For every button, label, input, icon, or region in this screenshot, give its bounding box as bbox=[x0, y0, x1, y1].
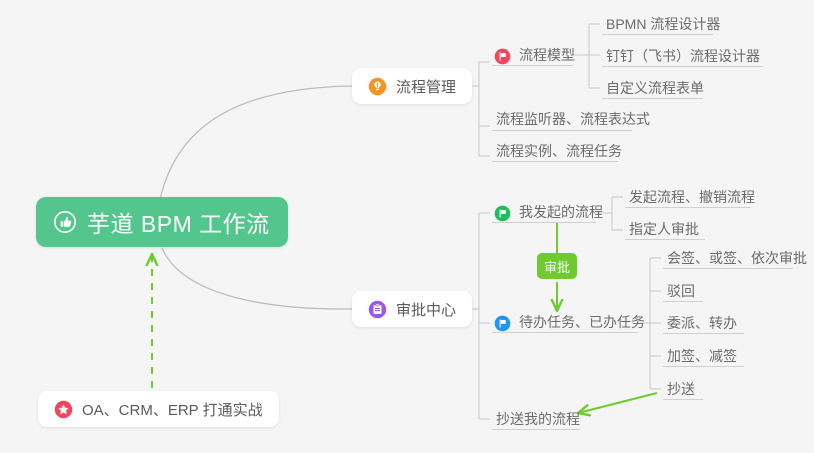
node-underline bbox=[492, 429, 580, 430]
clipboard-icon bbox=[368, 300, 387, 319]
branch-node-process-management[interactable]: 流程管理 bbox=[352, 68, 472, 104]
node-underline bbox=[663, 268, 793, 269]
callout-label: 审批 bbox=[544, 257, 570, 276]
node-label: 加签、减签 bbox=[667, 346, 737, 366]
footnote-node-integration[interactable]: OA、CRM、ERP 打通实战 bbox=[38, 391, 279, 427]
node-label: 抄送 bbox=[667, 379, 695, 399]
node-label: 钉钉（飞书）流程设计器 bbox=[606, 46, 760, 66]
node-label: 会签、或签、依次审批 bbox=[667, 248, 807, 268]
edge-root-to-approval-center bbox=[162, 248, 352, 309]
root-node-label: 芋道 BPM 工作流 bbox=[87, 205, 270, 239]
node-underline bbox=[663, 301, 703, 302]
node-label: 我发起的流程 bbox=[519, 202, 603, 222]
node-underline bbox=[492, 130, 632, 131]
node-label: 自定义流程表单 bbox=[606, 78, 704, 98]
node-underline bbox=[625, 207, 751, 208]
node-underline bbox=[602, 66, 763, 67]
callout-approval-chip: 审批 bbox=[537, 253, 577, 279]
node-underline bbox=[602, 98, 703, 99]
branch-node-label: 流程管理 bbox=[396, 76, 456, 97]
node-label: 发起流程、撤销流程 bbox=[629, 187, 755, 207]
node-label: BPMN 流程设计器 bbox=[606, 14, 720, 34]
node-label: 待办任务、已办任务 bbox=[519, 312, 645, 332]
lightbulb-icon bbox=[368, 77, 387, 96]
node-underline bbox=[492, 65, 573, 66]
node-label: 流程模型 bbox=[519, 45, 575, 65]
node-label: 流程监听器、流程表达式 bbox=[496, 109, 650, 129]
mindmap-canvas: 芋道 BPM 工作流 流程管理 流程模型 BPMN 流程设计器 bbox=[0, 0, 814, 453]
footnote-node-label: OA、CRM、ERP 打通实战 bbox=[82, 399, 263, 420]
flag-icon bbox=[494, 48, 511, 65]
node-label: 指定人审批 bbox=[629, 219, 699, 239]
node-underline bbox=[492, 161, 618, 162]
flag-icon bbox=[494, 315, 511, 332]
node-label: 流程实例、流程任务 bbox=[496, 141, 622, 161]
node-underline bbox=[492, 222, 596, 223]
star-icon bbox=[54, 400, 73, 419]
node-label: 抄送我的流程 bbox=[496, 409, 580, 429]
branch-node-label: 审批中心 bbox=[396, 299, 456, 320]
node-underline bbox=[663, 333, 744, 334]
node-underline bbox=[625, 239, 705, 240]
arrow-cc-to-ccme bbox=[578, 393, 657, 413]
node-underline bbox=[602, 34, 713, 35]
node-label: 委派、转办 bbox=[667, 313, 737, 333]
thumbs-up-icon bbox=[54, 211, 76, 233]
node-underline bbox=[663, 399, 703, 400]
branch-node-approval-center[interactable]: 审批中心 bbox=[352, 291, 472, 327]
node-underline bbox=[492, 332, 638, 333]
node-listener-expression[interactable]: 流程监听器、流程表达式 bbox=[492, 106, 656, 132]
flag-icon bbox=[494, 205, 511, 222]
root-node[interactable]: 芋道 BPM 工作流 bbox=[36, 197, 288, 247]
node-underline bbox=[663, 366, 744, 367]
node-label: 驳回 bbox=[667, 281, 695, 301]
